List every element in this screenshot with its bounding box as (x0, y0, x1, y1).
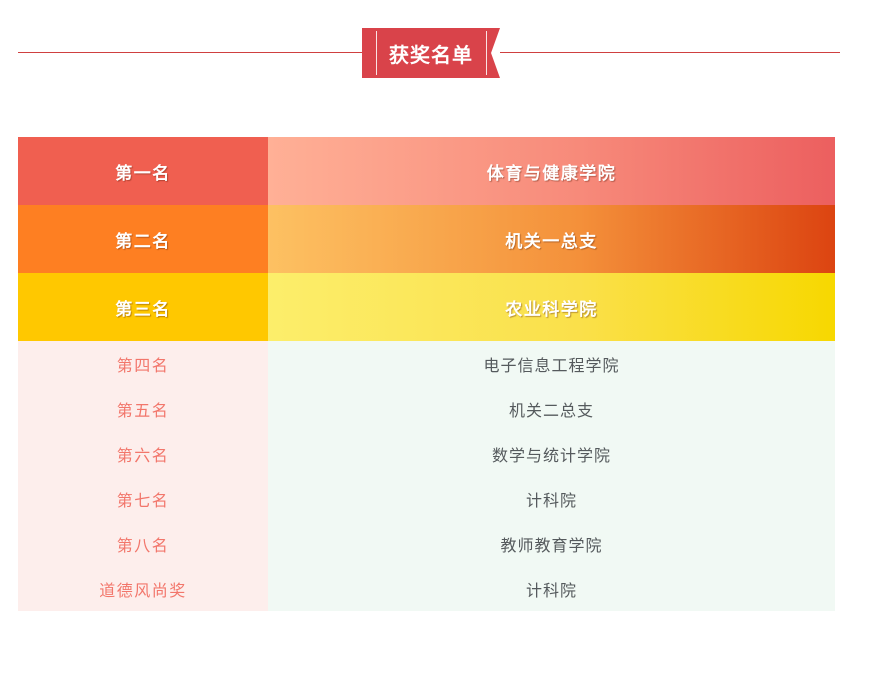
unit-cell: 数学与统计学院 (268, 431, 835, 476)
page-title: 获奖名单 (362, 28, 500, 78)
unit-cell: 机关一总支 (268, 205, 835, 273)
rank-cell: 道德风尚奖 (18, 566, 268, 611)
rank-cell: 第八名 (18, 521, 268, 566)
rank-cell: 第七名 (18, 476, 268, 521)
unit-cell: 计科院 (268, 476, 835, 521)
table-row: 第二名 机关一总支 (18, 205, 835, 273)
rank-cell: 第五名 (18, 386, 268, 431)
unit-cell: 机关二总支 (268, 386, 835, 431)
header-rule-right (500, 52, 840, 53)
table-row: 第一名 体育与健康学院 (18, 137, 835, 205)
table-row: 第七名 计科院 (18, 476, 835, 521)
unit-cell: 农业科学院 (268, 273, 835, 341)
rank-cell: 第三名 (18, 273, 268, 341)
table-row: 第五名 机关二总支 (18, 386, 835, 431)
rank-cell: 第二名 (18, 205, 268, 273)
table-row: 道德风尚奖 计科院 (18, 566, 835, 611)
table-row: 第三名 农业科学院 (18, 273, 835, 341)
unit-cell: 体育与健康学院 (268, 137, 835, 205)
table-row: 第四名 电子信息工程学院 (18, 341, 835, 386)
page-header: 获奖名单 (0, 0, 888, 105)
award-list-table: 第一名 体育与健康学院 第二名 机关一总支 第三名 农业科学院 第四名 电子信息… (18, 137, 835, 611)
table-row: 第六名 数学与统计学院 (18, 431, 835, 476)
unit-cell: 计科院 (268, 566, 835, 611)
header-rule-left (18, 52, 362, 53)
table-row: 第八名 教师教育学院 (18, 521, 835, 566)
unit-cell: 电子信息工程学院 (268, 341, 835, 386)
rank-cell: 第一名 (18, 137, 268, 205)
rank-cell: 第四名 (18, 341, 268, 386)
unit-cell: 教师教育学院 (268, 521, 835, 566)
rank-cell: 第六名 (18, 431, 268, 476)
